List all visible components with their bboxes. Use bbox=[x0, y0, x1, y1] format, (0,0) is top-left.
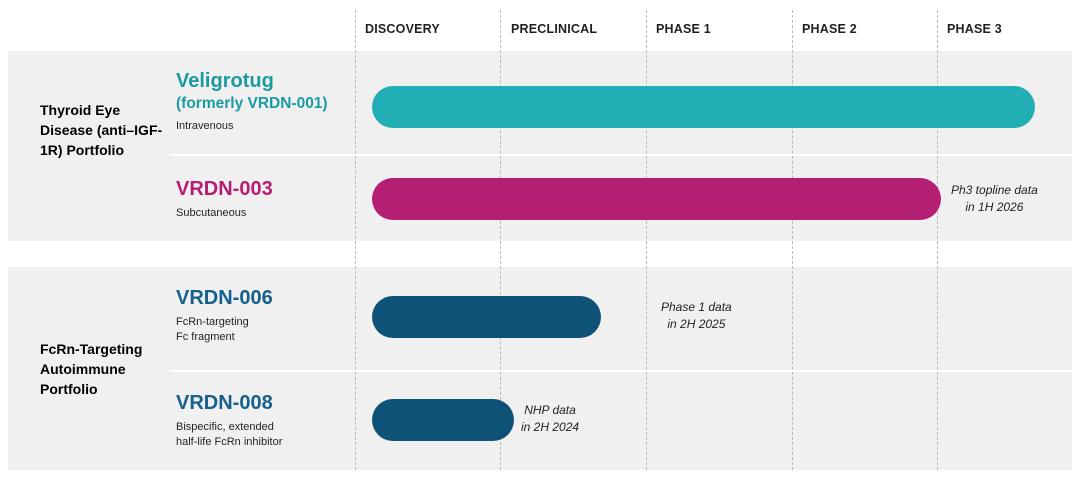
program-description-veligrotug: Intravenous bbox=[176, 119, 356, 134]
portfolio-label-thyroid-eye-disease: Thyroid Eye Disease (anti–IGF-1R) Portfo… bbox=[40, 101, 175, 161]
program-vrdn-008: VRDN-008 Bispecific, extendedhalf-life F… bbox=[176, 392, 356, 449]
program-name-vrdn-003: VRDN-003 bbox=[176, 178, 356, 201]
row-divider-fcrn bbox=[170, 370, 1072, 372]
progress-bar-veligrotug bbox=[372, 86, 1035, 128]
gridline-phase-2 bbox=[792, 10, 793, 470]
program-name-vrdn-008: VRDN-008 bbox=[176, 392, 356, 415]
program-name-veligrotug: Veligrotug bbox=[176, 70, 356, 93]
program-name-vrdn-006: VRDN-006 bbox=[176, 287, 356, 310]
phase-header-phase-2: PHASE 2 bbox=[802, 22, 857, 36]
phase-header-phase-3: PHASE 3 bbox=[947, 22, 1002, 36]
program-vrdn-003: VRDN-003 Subcutaneous bbox=[176, 178, 356, 221]
progress-bar-vrdn-008 bbox=[372, 399, 514, 441]
program-vrdn-006: VRDN-006 FcRn-targetingFc fragment bbox=[176, 287, 356, 344]
gridline-phase-1 bbox=[646, 10, 647, 470]
phase-header-preclinical: PRECLINICAL bbox=[511, 22, 597, 36]
progress-bar-vrdn-006 bbox=[372, 296, 601, 338]
phase-header-discovery: DISCOVERY bbox=[365, 22, 440, 36]
phase-header-phase-1: PHASE 1 bbox=[656, 22, 711, 36]
program-description-vrdn-006: FcRn-targetingFc fragment bbox=[176, 315, 356, 344]
gridline-phase-3 bbox=[937, 10, 938, 470]
milestone-annotation-vrdn-008: NHP datain 2H 2024 bbox=[521, 402, 579, 437]
milestone-annotation-vrdn-006: Phase 1 datain 2H 2025 bbox=[661, 299, 732, 334]
program-description-vrdn-008: Bispecific, extendedhalf-life FcRn inhib… bbox=[176, 420, 356, 449]
row-divider-thyroid bbox=[170, 154, 1072, 156]
pipeline-chart: DISCOVERY PRECLINICAL PHASE 1 PHASE 2 PH… bbox=[0, 0, 1080, 477]
program-subtitle-veligrotug: (formerly VRDN-001) bbox=[176, 95, 356, 114]
progress-bar-vrdn-003 bbox=[372, 178, 941, 220]
phase-header-row: DISCOVERY PRECLINICAL PHASE 1 PHASE 2 PH… bbox=[0, 0, 1080, 50]
milestone-annotation-vrdn-003: Ph3 topline datain 1H 2026 bbox=[951, 182, 1038, 217]
portfolio-label-fcrn-targeting: FcRn-Targeting Autoimmune Portfolio bbox=[40, 340, 175, 400]
program-veligrotug: Veligrotug (formerly VRDN-001) Intraveno… bbox=[176, 70, 356, 133]
program-description-vrdn-003: Subcutaneous bbox=[176, 206, 356, 221]
